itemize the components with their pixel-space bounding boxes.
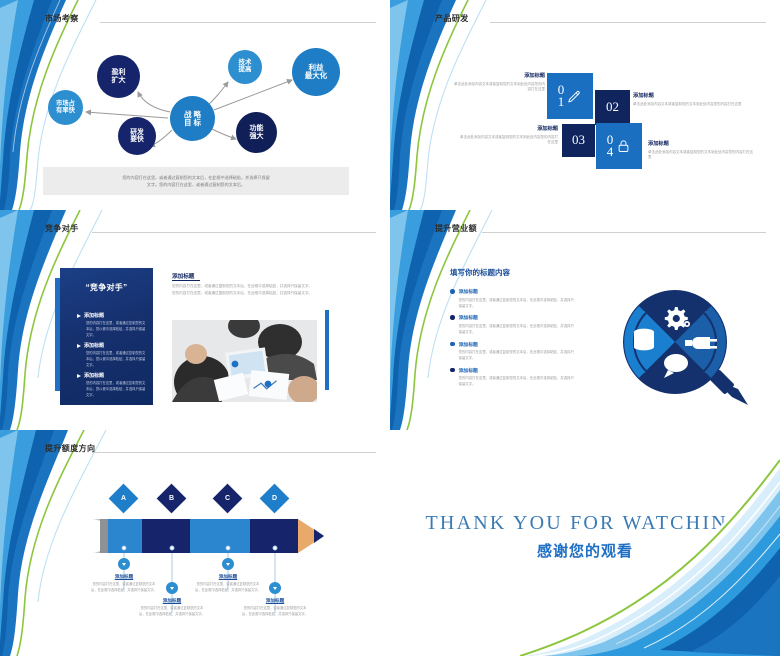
mindmap-node-center[interactable]: 战 略 目 标 xyxy=(170,96,215,141)
item-body: 您的内容打在这里，或者通过复制您的文本后，您以便中选择粘贴，并选择只保留文字。 xyxy=(86,381,147,398)
step-caption-c[interactable]: 添加标题 您的内容打在这里，或者通过复制您的文本后，在此框中选择粘贴，并选择只保… xyxy=(195,574,261,594)
node-line-1: 功能 xyxy=(250,125,264,132)
bullet-dot-icon xyxy=(450,368,455,373)
pin-marker-c[interactable] xyxy=(222,558,234,570)
pencil-infographic: A B C D 添加标题 您的内容打在这里，或者通过复制您的文本后，在此框中选择… xyxy=(0,430,390,656)
right-body-line-2: 您的内容打在这里，或者通过复制您的文本后，在此框中选择粘贴，并选择只保留文字。 xyxy=(172,290,354,297)
bullet-list: 添加标题 您的内容打在这里，或者通过复制您的文本后，在此框中选择粘贴，并选择只保… xyxy=(450,288,575,393)
rd-block-01[interactable]: 添加标题 单击此处添加内容文本或者复制您的文本到此处内容您的内容打在这里 xyxy=(452,72,545,93)
item-title: 添加标题 xyxy=(459,288,575,295)
node-line-2: 有率快 xyxy=(56,108,75,115)
panel-item-3[interactable]: 添加标题 您的内容打在这里，或者通过复制您的文本后，您以便中选择粘贴，并选择只保… xyxy=(77,372,147,398)
wave-decoration xyxy=(520,456,780,656)
note-line-1: 您的内容打在这里，或者通过复制您的文本后，在此框中选择粘贴，并选择只保留 xyxy=(122,174,269,181)
mindmap-node-maximize[interactable]: 利益 最大化 xyxy=(292,48,340,96)
list-item[interactable]: 添加标题 您的内容打在这里，或者通过复制您的文本后，在此框中选择粘贴，并选择只保… xyxy=(450,367,575,388)
page-title: 产品研发 xyxy=(435,13,469,24)
item-body: 您的内容打在这里，或者通过复制您的文本后，在此框中选择粘贴，并选择只保留文字。 xyxy=(459,323,575,335)
list-item[interactable]: 添加标题 您的内容打在这里，或者通过复制您的文本后，在此框中选择粘贴，并选择只保… xyxy=(450,314,575,335)
caret-down-icon xyxy=(170,587,174,590)
caption-body: 您的内容打在这里，或者通过复制您的文本后，在此框中选择粘贴，并选择只保留文字。 xyxy=(139,606,205,618)
triangle-bullet-icon xyxy=(77,344,81,348)
triangle-bullet-icon xyxy=(77,374,81,378)
pencil-body xyxy=(92,519,324,553)
pin-marker-a[interactable] xyxy=(118,558,130,570)
item-body: 您的内容打在这里，或者通过复制您的文本后，您以便中选择粘贴，并选择只保留文字。 xyxy=(86,321,147,338)
square-number: 03 xyxy=(572,134,585,146)
slide-thank-you[interactable]: THANK YOU FOR WATCHING 感谢您的观看 xyxy=(390,430,780,656)
block-title: 添加标题 xyxy=(648,140,753,147)
pencil-icon xyxy=(567,89,582,104)
node-line-2: 扩大 xyxy=(112,77,126,84)
step-caption-a[interactable]: 添加标题 您的内容打在这里，或者通过复制您的文本后，在此框中选择粘贴，并选择只保… xyxy=(91,574,157,594)
item-title: 添加标题 xyxy=(84,372,104,379)
right-title-underline xyxy=(172,280,200,281)
item-body: 您的内容打在这里，或者通过复制您的文本后，在此框中选择粘贴，并选择只保留文字。 xyxy=(459,349,575,361)
slide-deck-grid: 市场考察 战 略 目 标 xyxy=(0,0,780,656)
list-item[interactable]: 添加标题 您的内容打在这里，或者通过复制您的文本后，在此框中选择粘贴，并选择只保… xyxy=(450,341,575,362)
item-body: 您的内容打在这里，或者通过复制您的文本后，在此框中选择粘贴，并选择只保留文字。 xyxy=(459,297,575,309)
block-body: 单击此处添加内容文本或者复制您的文本到此处内容您的内容打在这里 xyxy=(648,150,753,162)
caret-down-icon xyxy=(122,563,126,566)
title-rule xyxy=(482,232,766,233)
panel-item-1[interactable]: 添加标题 您的内容打在这里，或者通过复制您的文本后，您以便中选择粘贴，并选择只保… xyxy=(77,312,147,338)
step-caption-b[interactable]: 添加标题 您的内容打在这里，或者通过复制您的文本后，在此框中选择粘贴，并选择只保… xyxy=(139,598,205,618)
mindmap-node-tech[interactable]: 技术 提高 xyxy=(228,50,262,84)
panel-heading: “竞争对手” xyxy=(60,282,153,293)
square-number: 01 xyxy=(558,84,565,109)
list-item[interactable]: 添加标题 您的内容打在这里，或者通过复制您的文本后，在此框中选择粘贴，并选择只保… xyxy=(450,288,575,309)
right-accent-bar xyxy=(325,310,329,390)
node-line-2: 强大 xyxy=(250,133,264,140)
bullet-dot-icon xyxy=(450,342,455,347)
caption-title: 添加标题 xyxy=(195,574,261,580)
triangle-bullet-icon xyxy=(77,314,81,318)
title-rule xyxy=(92,232,376,233)
slide-market-research[interactable]: 市场考察 战 略 目 标 xyxy=(0,0,390,210)
database-icon xyxy=(634,329,654,351)
item-body: 您的内容打在这里，或者通过复制您的文本后，您以便中选择粘贴，并选择只保留文字。 xyxy=(86,351,147,368)
slide-competitors[interactable]: 竞争对手 “竞争对手” 添加标题 您的内容打在这里，或者通过复制您的文本后，您以… xyxy=(0,210,390,430)
pin-marker-b[interactable] xyxy=(166,582,178,594)
rd-square-04[interactable]: 04 xyxy=(596,123,642,169)
rd-block-02[interactable]: 添加标题 单击此处添加内容文本或者复制您的文本到此处内容您的内容打在这里 xyxy=(633,92,743,107)
page-title: 竞争对手 xyxy=(45,223,79,234)
right-title: 添加标题 xyxy=(172,272,194,280)
title-rule xyxy=(490,22,766,23)
rd-square-02[interactable]: 02 xyxy=(595,90,630,125)
node-line-2: 目 标 xyxy=(184,119,201,127)
caption-body: 您的内容打在这里，或者通过复制您的文本后，在此框中选择粘贴，并选择只保留文字。 xyxy=(242,606,308,618)
page-title: 提升营业额 xyxy=(435,223,477,234)
mindmap-node-rd[interactable]: 研发 要快 xyxy=(118,117,156,155)
meeting-photo xyxy=(172,320,317,402)
node-line-2: 最大化 xyxy=(305,72,328,80)
step-caption-d[interactable]: 添加标题 您的内容打在这里，或者通过复制您的文本后，在此框中选择粘贴，并选择只保… xyxy=(242,598,308,618)
slide-revenue-growth[interactable]: 提升营业额 填写你的标题内容 添加标题 您的内容打在这里，或者通过复制您的文本后… xyxy=(390,210,780,430)
panel-item-2[interactable]: 添加标题 您的内容打在这里，或者通过复制您的文本后，您以便中选择粘贴，并选择只保… xyxy=(77,342,147,368)
step-letter: A xyxy=(121,495,126,502)
bullet-dot-icon xyxy=(450,289,455,294)
node-line-2: 提高 xyxy=(239,67,252,74)
square-number: 02 xyxy=(606,101,619,113)
block-title: 添加标题 xyxy=(460,125,558,132)
item-title: 添加标题 xyxy=(459,367,575,374)
block-body: 单击此处添加内容文本或者复制您的文本到此处内容您的内容打在这里 xyxy=(452,82,545,94)
slide-quota-direction[interactable]: 提升额度方向 xyxy=(0,430,390,656)
note-line-2: 文字。您的内容打在这里，或者通过复制您的文本后。 xyxy=(147,181,245,188)
node-line-1: 盈利 xyxy=(112,69,126,76)
mindmap-node-market-share[interactable]: 市场占 有率快 xyxy=(48,90,83,125)
slide-product-rd[interactable]: 产品研发 添加标题 单击此处添加内容文本或者复制您的文本到此处内容您的内容打在这… xyxy=(390,0,780,210)
wave-decoration xyxy=(390,0,520,210)
block-body: 单击此处添加内容文本或者复制您的文本到此处内容您的内容打在这里 xyxy=(460,135,558,147)
caption-body: 您的内容打在这里，或者通过复制您的文本后，在此框中选择粘贴，并选择只保留文字。 xyxy=(91,582,157,594)
caret-down-icon xyxy=(273,587,277,590)
right-body-line-1: 您的内容打在这里，或者通过复制您的文本后，在此框中选择粘贴，并选择只保留文字。 xyxy=(172,283,354,290)
caption-body: 您的内容打在这里，或者通过复制您的文本后，在此框中选择粘贴，并选择只保留文字。 xyxy=(195,582,261,594)
step-letter: D xyxy=(272,495,277,502)
square-number: 04 xyxy=(607,134,614,159)
magnifier-graphic[interactable] xyxy=(610,285,760,410)
caption-title: 添加标题 xyxy=(139,598,205,604)
item-body: 您的内容打在这里，或者通过复制您的文本后，在此框中选择粘贴，并选择只保留文字。 xyxy=(459,375,575,387)
section-heading: 填写你的标题内容 xyxy=(450,267,510,278)
bullet-dot-icon xyxy=(450,315,455,320)
block-title: 添加标题 xyxy=(452,72,545,79)
node-line-2: 要快 xyxy=(130,136,144,143)
lock-icon xyxy=(616,139,631,154)
caret-down-icon xyxy=(226,563,230,566)
item-title: 添加标题 xyxy=(459,341,575,348)
item-title: 添加标题 xyxy=(459,314,575,321)
rd-block-03[interactable]: 添加标题 单击此处添加内容文本或者复制您的文本到此处内容您的内容打在这里 xyxy=(460,125,558,146)
pin-marker-d[interactable] xyxy=(269,582,281,594)
mindmap-node-function[interactable]: 功能 强大 xyxy=(236,112,277,153)
step-letter: B xyxy=(169,495,174,502)
rd-block-04[interactable]: 添加标题 单击此处添加内容文本或者复制您的文本到此处内容您的内容打在这里 xyxy=(648,140,753,161)
item-title: 添加标题 xyxy=(84,342,104,349)
right-body: 您的内容打在这里，或者通过复制您的文本后，在此框中选择粘贴，并选择只保留文字。 … xyxy=(172,283,354,297)
block-title: 添加标题 xyxy=(633,92,743,99)
rd-square-03[interactable]: 03 xyxy=(562,124,595,157)
caption-title: 添加标题 xyxy=(242,598,308,604)
note-box: 您的内容打在这里，或者通过复制您的文本后，在此框中选择粘贴，并选择只保留 文字。… xyxy=(43,167,349,195)
block-body: 单击此处添加内容文本或者复制您的文本到此处内容您的内容打在这里 xyxy=(633,102,743,108)
mindmap-node-profit[interactable]: 盈利 扩大 xyxy=(97,55,140,98)
competitor-panel[interactable]: “竞争对手” 添加标题 您的内容打在这里，或者通过复制您的文本后，您以便中选择粘… xyxy=(60,268,153,405)
step-letter: C xyxy=(225,495,230,502)
caption-title: 添加标题 xyxy=(91,574,157,580)
rd-square-01[interactable]: 01 xyxy=(547,73,593,119)
node-line-1: 研发 xyxy=(130,129,144,136)
item-title: 添加标题 xyxy=(84,312,104,319)
thank-you-canvas: THANK YOU FOR WATCHING 感谢您的观看 xyxy=(390,430,780,656)
